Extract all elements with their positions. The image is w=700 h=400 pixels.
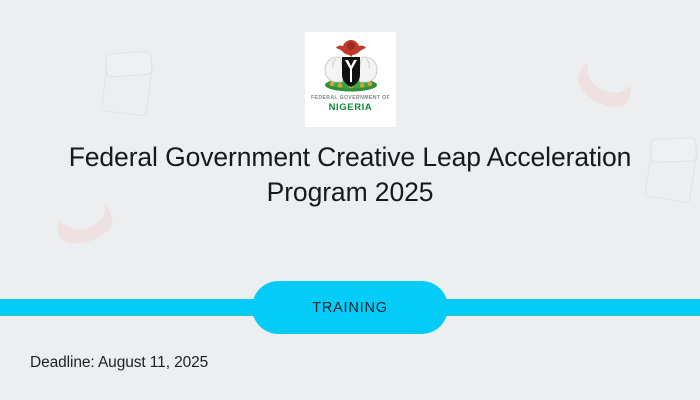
logo-line-two: NIGERIA bbox=[329, 102, 373, 113]
nigeria-coat-of-arms-icon bbox=[318, 37, 384, 93]
deadline-text: Deadline: August 11, 2025 bbox=[30, 354, 208, 372]
outlined-box-icon bbox=[101, 57, 153, 116]
category-badge-label: TRAINING bbox=[312, 300, 388, 316]
organization-logo-card: FEDERAL GOVERNMENT OF NIGERIA bbox=[305, 32, 396, 127]
category-badge-training[interactable]: TRAINING bbox=[252, 281, 448, 334]
opportunity-poster: FEDERAL GOVERNMENT OF NIGERIA Federal Go… bbox=[0, 0, 700, 400]
pink-crescent-icon bbox=[571, 51, 640, 114]
page-title: Federal Government Creative Leap Acceler… bbox=[30, 140, 670, 210]
logo-line-one: FEDERAL GOVERNMENT OF bbox=[311, 95, 390, 101]
